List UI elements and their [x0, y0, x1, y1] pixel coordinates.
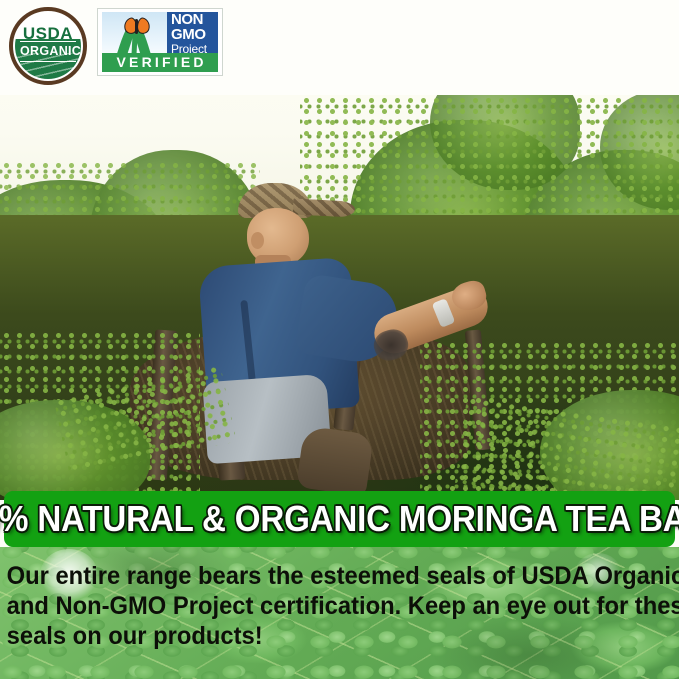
- body-copy-line-2: and Non-GMO Project certification. Keep …: [7, 591, 639, 621]
- usda-organic-seal: USDA ORGANIC: [9, 7, 87, 85]
- cap-brim: [293, 198, 356, 217]
- body-copy-line-1: Our entire range bears the esteemed seal…: [7, 561, 639, 591]
- gmo-line-non: NON: [171, 12, 216, 27]
- farmer-ear: [251, 232, 264, 249]
- headline-banner: 100% NATURAL & ORGANIC MORINGA TEA BAGS: [4, 491, 675, 547]
- gmo-sky-panel: [102, 12, 167, 54]
- gmo-seal-upper: NON GMO Project: [102, 12, 218, 54]
- certification-seal-row: USDA ORGANIC NON GMO: [0, 0, 679, 95]
- butterfly-body: [135, 19, 138, 34]
- leaf-pattern-panel: Our entire range bears the esteemed seal…: [0, 547, 679, 679]
- farmer-leg: [296, 425, 374, 496]
- gmo-line-gmo: GMO: [171, 27, 216, 42]
- body-copy-line-3: seals on our products!: [7, 621, 639, 651]
- non-gmo-project-verified-seal: NON GMO Project VERIFIED: [97, 8, 223, 76]
- gmo-text-panel: NON GMO Project: [167, 12, 218, 54]
- product-infographic: USDA ORGANIC NON GMO: [0, 0, 679, 679]
- usda-seal-bottom-text: ORGANIC: [20, 41, 76, 62]
- headline-text: 100% NATURAL & ORGANIC MORINGA TEA BAGS: [0, 501, 679, 537]
- gmo-verified-banner: VERIFIED: [102, 53, 218, 72]
- butterfly-icon: [124, 17, 150, 37]
- usda-seal-inner: USDA ORGANIC: [15, 13, 81, 79]
- body-copy: Our entire range bears the esteemed seal…: [0, 561, 645, 651]
